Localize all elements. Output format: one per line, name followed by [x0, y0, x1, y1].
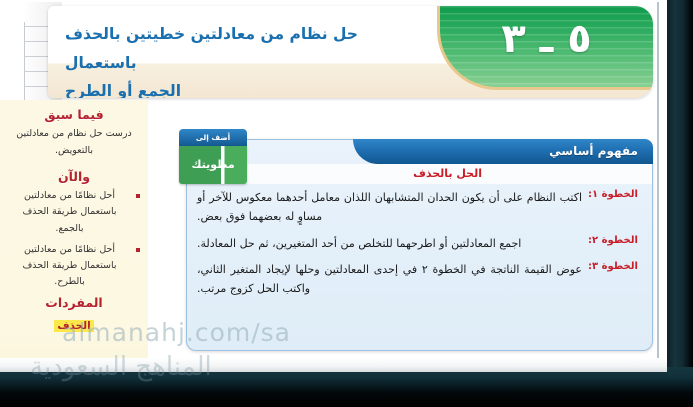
step-text: اجمع المعادلتين أو اطرحهما للتخلص من أحد… [193, 234, 582, 253]
sidebar-previously-text: درست حل نظام من معادلتين بالتعويض. [8, 126, 140, 159]
list-item: أحل نظامًا من معادلتين باستعمال طريقة ال… [8, 242, 140, 290]
sidebar-vocabulary-row: الحذف [8, 314, 140, 333]
lesson-title-banner: ٥ ـ ٣ حل نظام من معادلتين خطيتين بالحذف … [48, 6, 653, 98]
key-concept-box: مفهوم أساسي الحل بالحذف أضف إلى مطويتك ا… [186, 139, 653, 351]
sidebar-heading-now: والآن [8, 169, 140, 184]
lesson-title-line-1: حل نظام من معادلتين خطيتين بالحذف باستعم… [65, 20, 425, 77]
step-label: الخطوة ٢: [582, 234, 644, 246]
section-number: ٥ ـ ٣ [440, 16, 653, 62]
sidebar-heading-previously: فيما سبق [8, 107, 140, 122]
page-title: حل نظام من معادلتين خطيتين بالحذف باستعم… [65, 20, 425, 98]
foldable-tab-bottom-label: مطويتك [179, 146, 247, 184]
foldable-tab-top-label: أضف إلى [179, 129, 247, 147]
step-label: الخطوة ٣: [582, 260, 644, 272]
foldable-note-tab: أضف إلى مطويتك [179, 129, 247, 185]
section-number-tab: ٥ ـ ٣ [437, 6, 653, 90]
lesson-title-line-2: الجمع أو الطرح [65, 77, 425, 98]
sidebar: فيما سبق درست حل نظام من معادلتين بالتعو… [0, 100, 148, 358]
step-text: اكتب النظام على أن يكون الحدان المتشابها… [193, 188, 582, 227]
steps-list: الخطوة ١: اكتب النظام على أن يكون الحدان… [187, 188, 652, 305]
step-label: الخطوة ١: [582, 188, 644, 200]
key-concept-header-label: مفهوم أساسي [549, 144, 638, 158]
key-concept-subtitle: الحل بالحذف [413, 167, 482, 180]
vocabulary-term: الحذف [54, 320, 93, 332]
step-row: الخطوة ١: اكتب النظام على أن يكون الحدان… [193, 188, 644, 227]
scan-edge-right [667, 0, 693, 407]
step-row: الخطوة ٣: عوض القيمة الناتجة في الخطوة ٢… [193, 260, 644, 299]
page-bottom-edge [0, 358, 667, 372]
sidebar-heading-vocabulary: المفردات [8, 295, 140, 310]
step-text: عوض القيمة الناتجة في الخطوة ٢ في إحدى ا… [193, 260, 582, 299]
scan-edge-bottom [0, 367, 693, 407]
sidebar-objectives-list: أحل نظامًا من معادلتين باستعمال طريقة ال… [8, 188, 140, 290]
textbook-page: ٥ ـ ٣ حل نظام من معادلتين خطيتين بالحذف … [0, 0, 693, 407]
list-item: أحل نظامًا من معادلتين باستعمال طريقة ال… [8, 188, 140, 236]
step-row: الخطوة ٢: اجمع المعادلتين أو اطرحهما للت… [193, 234, 644, 253]
page-sheet: ٥ ـ ٣ حل نظام من معادلتين خطيتين بالحذف … [0, 0, 667, 372]
